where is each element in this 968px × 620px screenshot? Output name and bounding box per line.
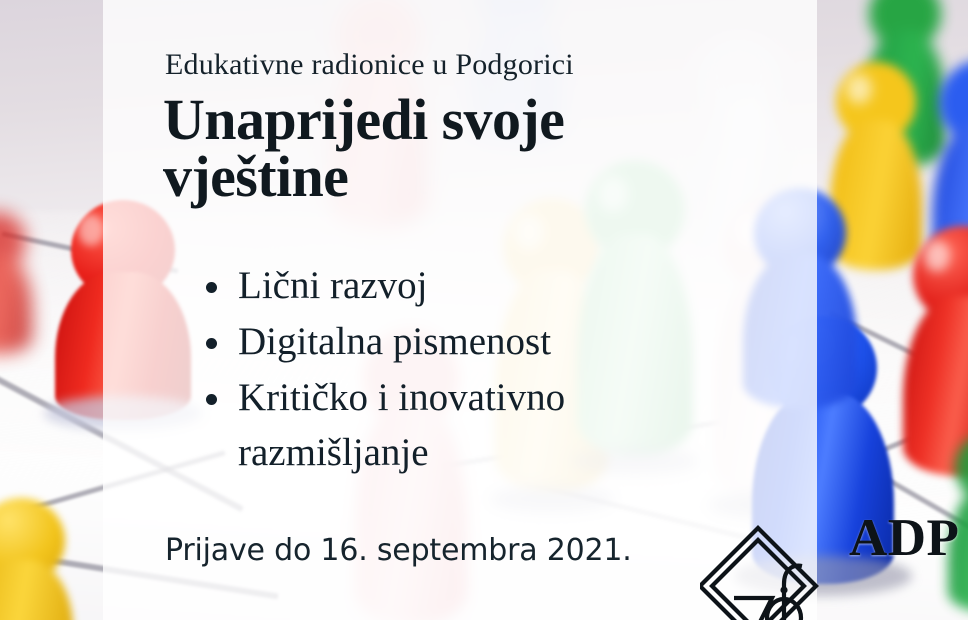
benefits-list: Lični razvoj Digitalna pismenost Kritičk… — [200, 258, 760, 481]
poster: Edukativne radionice u Podgorici Unaprij… — [0, 0, 968, 620]
list-item: Digitalna pismenost — [200, 314, 760, 370]
list-item: Lični razvoj — [200, 258, 760, 314]
logo-wordmark: ADP — [849, 508, 959, 568]
deadline-text: Prijave do 16. septembra 2021. — [165, 533, 632, 568]
page-title: Unaprijedi svoje vještine — [163, 92, 763, 206]
list-item: Kritičko i inovativno razmišljanje — [200, 370, 760, 482]
eyebrow-text: Edukativne radionice u Podgorici — [165, 48, 574, 82]
logo-diamond-icon — [700, 518, 865, 620]
content-layer: Edukativne radionice u Podgorici Unaprij… — [0, 0, 968, 620]
